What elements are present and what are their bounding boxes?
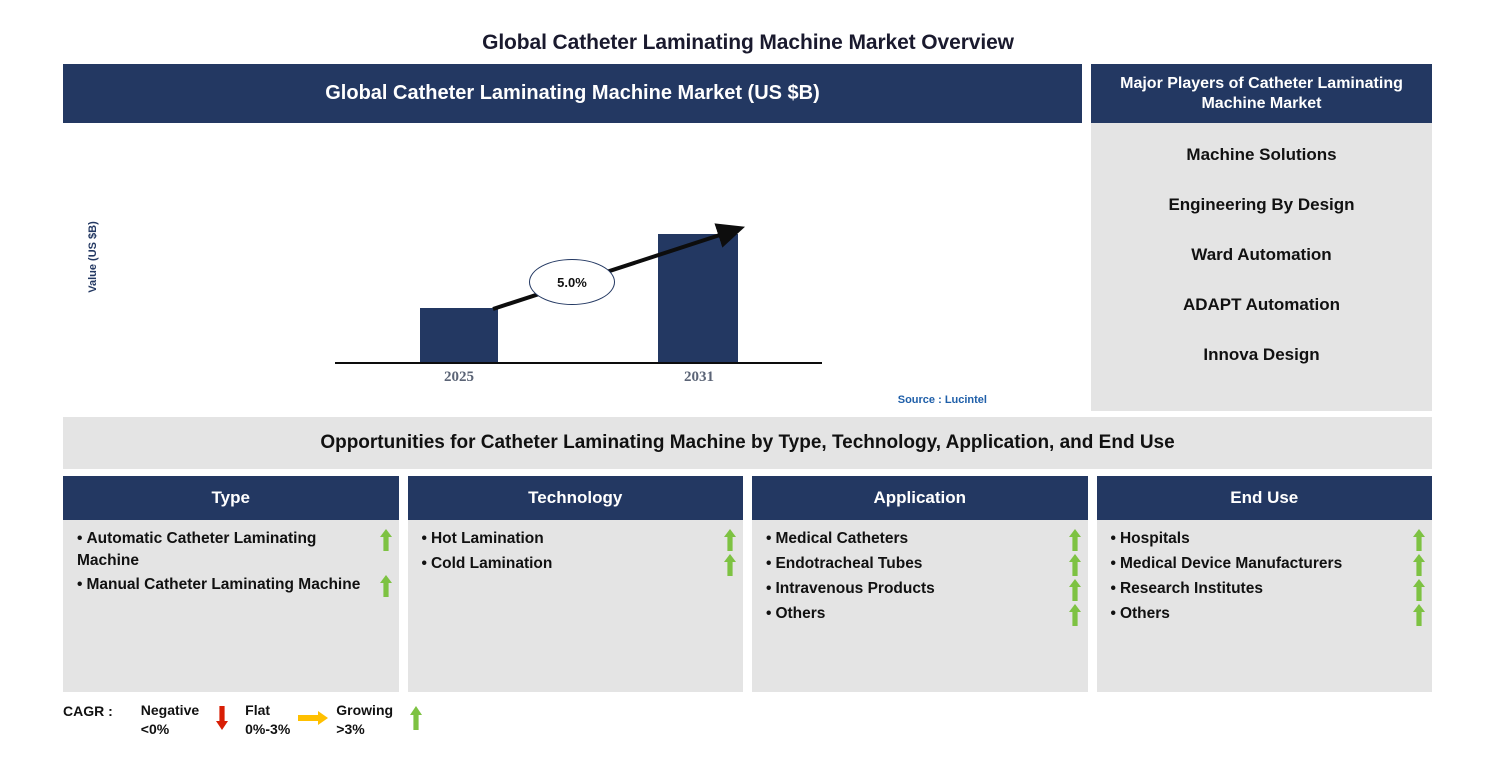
arrow-up-icon <box>1068 604 1082 626</box>
opportunities-banner: Opportunities for Catheter Laminating Ma… <box>63 417 1432 469</box>
list-item: •Intravenous Products <box>766 578 1082 601</box>
segment-card-header: Technology <box>408 476 744 520</box>
arrow-up-icon <box>1412 604 1426 626</box>
list-item: •Others <box>766 603 1082 626</box>
list-item: •Endotracheal Tubes <box>766 553 1082 576</box>
cagr-legend-item-negative: Negative <0% <box>141 701 245 739</box>
major-players-panel: Major Players of Catheter Laminating Mac… <box>1091 64 1432 411</box>
list-item-label: •Manual Catheter Laminating Machine <box>77 574 362 596</box>
arrow-up-icon <box>379 575 393 597</box>
list-item-label: •Automatic Catheter Laminating Machine <box>77 528 379 572</box>
cagr-legend-growing-text: Growing >3% <box>336 701 393 739</box>
segment-card-header: End Use <box>1097 476 1433 520</box>
list-item-label: •Hot Lamination <box>422 528 546 550</box>
list-item-label: •Research Institutes <box>1111 578 1265 600</box>
list-item: •Hot Lamination <box>422 528 738 551</box>
list-item-label: •Others <box>766 603 827 625</box>
list-item: Machine Solutions <box>1091 145 1432 165</box>
segment-card-application: Application •Medical Catheters •Endotrac… <box>752 476 1088 692</box>
cagr-legend: CAGR : Negative <0% Flat 0%-3% Growing >… <box>63 701 439 739</box>
list-item-label: •Hospitals <box>1111 528 1192 550</box>
cagr-callout-bubble: 5.0% <box>529 259 615 305</box>
segment-card-type: Type •Automatic Catheter Laminating Mach… <box>63 476 399 692</box>
major-players-header: Major Players of Catheter Laminating Mac… <box>1091 64 1432 123</box>
chart-panel-header: Global Catheter Laminating Machine Marke… <box>63 64 1082 123</box>
list-item-label: •Intravenous Products <box>766 578 937 600</box>
list-item: •Manual Catheter Laminating Machine <box>77 574 393 597</box>
list-item: •Others <box>1111 603 1427 626</box>
segment-card-technology: Technology •Hot Lamination •Cold Laminat… <box>408 476 744 692</box>
list-item-label: •Medical Catheters <box>766 528 910 550</box>
arrow-up-icon <box>1412 554 1426 576</box>
segment-cards: Type •Automatic Catheter Laminating Mach… <box>63 476 1432 692</box>
segment-card-body: •Automatic Catheter Laminating Machine •… <box>63 520 399 692</box>
cagr-legend-flat-text: Flat 0%-3% <box>245 701 290 739</box>
arrow-up-icon <box>1412 579 1426 601</box>
list-item: Engineering By Design <box>1091 195 1432 215</box>
segment-card-body: •Hot Lamination •Cold Lamination <box>408 520 744 692</box>
page-title: Global Catheter Laminating Machine Marke… <box>0 31 1496 55</box>
list-item-label: •Cold Lamination <box>422 553 555 575</box>
cagr-legend-title: CAGR : <box>63 701 113 719</box>
arrow-right-icon <box>296 701 330 735</box>
major-players-list: Machine Solutions Engineering By Design … <box>1091 123 1432 411</box>
segment-card-end-use: End Use •Hospitals •Medical Device Manuf… <box>1097 476 1433 692</box>
arrow-up-icon <box>1068 579 1082 601</box>
list-item: Innova Design <box>1091 345 1432 365</box>
cagr-legend-item-growing: Growing >3% <box>336 701 439 739</box>
market-chart-panel: Global Catheter Laminating Machine Marke… <box>63 64 1082 411</box>
segment-card-body: •Hospitals •Medical Device Manufacturers… <box>1097 520 1433 692</box>
list-item: •Automatic Catheter Laminating Machine <box>77 528 393 572</box>
arrow-up-icon <box>723 529 737 551</box>
list-item: •Medical Catheters <box>766 528 1082 551</box>
list-item: •Hospitals <box>1111 528 1427 551</box>
segment-card-body: •Medical Catheters •Endotracheal Tubes •… <box>752 520 1088 692</box>
arrow-up-icon <box>1068 554 1082 576</box>
list-item: Ward Automation <box>1091 245 1432 265</box>
arrow-up-icon <box>1412 529 1426 551</box>
cagr-legend-item-flat: Flat 0%-3% <box>245 701 336 739</box>
arrow-up-icon <box>399 701 433 735</box>
list-item: •Medical Device Manufacturers <box>1111 553 1427 576</box>
list-item: •Cold Lamination <box>422 553 738 576</box>
list-item-label: •Others <box>1111 603 1172 625</box>
infographic-root: Global Catheter Laminating Machine Marke… <box>0 0 1496 774</box>
arrow-up-icon <box>1068 529 1082 551</box>
arrow-up-icon <box>379 529 393 551</box>
arrow-down-icon <box>205 701 239 735</box>
segment-card-header: Type <box>63 476 399 520</box>
list-item-label: •Endotracheal Tubes <box>766 553 924 575</box>
list-item: ADAPT Automation <box>1091 295 1432 315</box>
list-item-label: •Medical Device Manufacturers <box>1111 553 1345 575</box>
chart-plot-area: Value (US $B) 5.0% 2025 2031 <box>63 123 1082 411</box>
arrow-up-icon <box>723 554 737 576</box>
segment-card-header: Application <box>752 476 1088 520</box>
list-item: •Research Institutes <box>1111 578 1427 601</box>
cagr-legend-negative-text: Negative <0% <box>141 701 199 739</box>
